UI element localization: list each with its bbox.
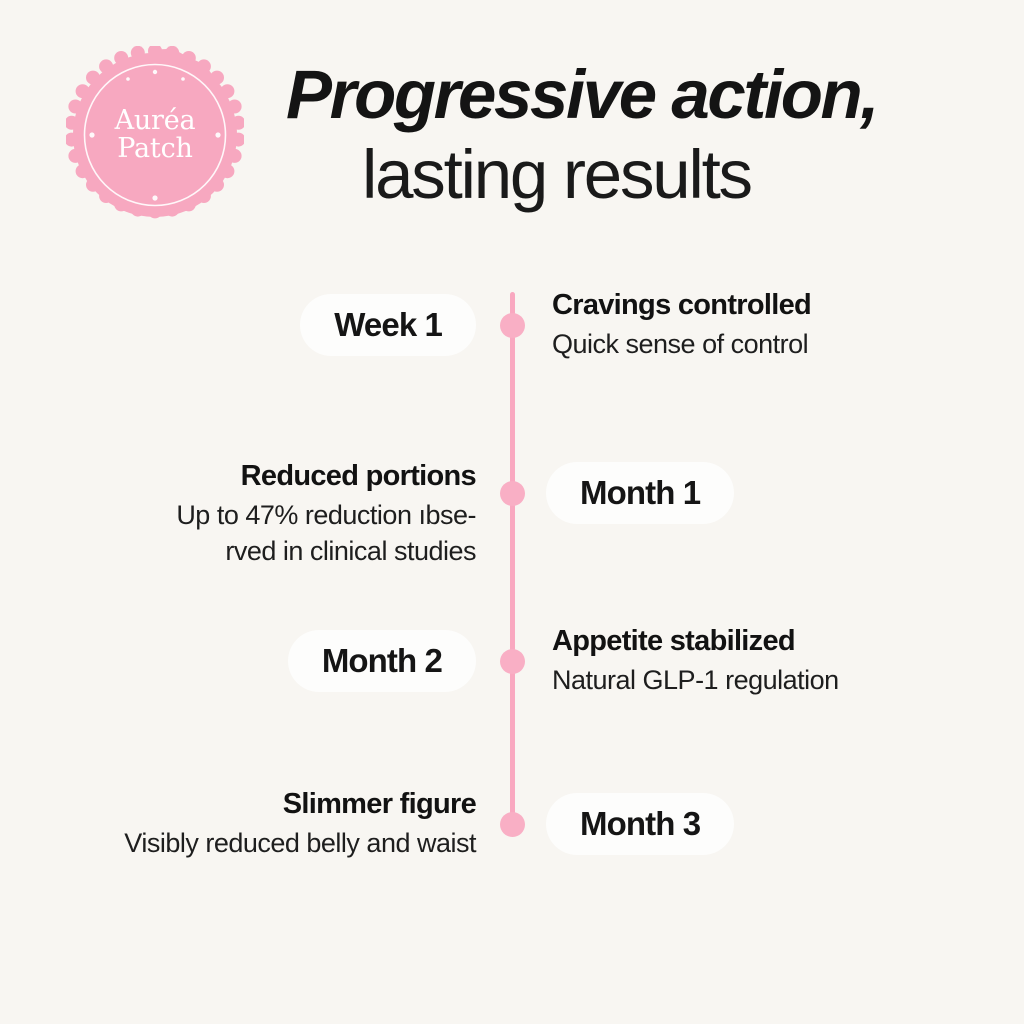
timeline-period-pill[interactable]: Week 1 bbox=[300, 294, 476, 356]
timeline-period-pill[interactable]: Month 1 bbox=[546, 462, 734, 524]
timeline-title: Reduced portions bbox=[6, 460, 476, 492]
timeline-title: Cravings controlled bbox=[552, 289, 972, 321]
timeline-dot bbox=[500, 313, 525, 338]
timeline-text-block: Slimmer figure Visibly reduced belly and… bbox=[6, 788, 476, 862]
timeline-dot bbox=[500, 812, 525, 837]
timeline-description-line-2: rved in clinical studies bbox=[6, 534, 476, 570]
timeline-description: Natural GLP-1 regulation bbox=[552, 663, 972, 699]
timeline-description: Visibly reduced belly and waist bbox=[6, 826, 476, 862]
timeline-period-pill[interactable]: Month 2 bbox=[288, 630, 476, 692]
timeline-dot bbox=[500, 481, 525, 506]
timeline-description: Quick sense of control bbox=[552, 327, 972, 363]
timeline-dot bbox=[500, 649, 525, 674]
timeline-period-pill[interactable]: Month 3 bbox=[546, 793, 734, 855]
timeline-title: Appetite stabilized bbox=[552, 625, 972, 657]
timeline-description-line-1: Up to 47% reduction ıbse- bbox=[6, 498, 476, 534]
timeline-rows: Week 1 Cravings controlled Quick sense o… bbox=[0, 0, 1024, 1024]
timeline-text-block: Cravings controlled Quick sense of contr… bbox=[552, 289, 972, 363]
timeline-text-block: Appetite stabilized Natural GLP-1 regula… bbox=[552, 625, 972, 699]
timeline-text-block: Reduced portions Up to 47% reduction ıbs… bbox=[6, 460, 476, 570]
timeline-title: Slimmer figure bbox=[6, 788, 476, 820]
